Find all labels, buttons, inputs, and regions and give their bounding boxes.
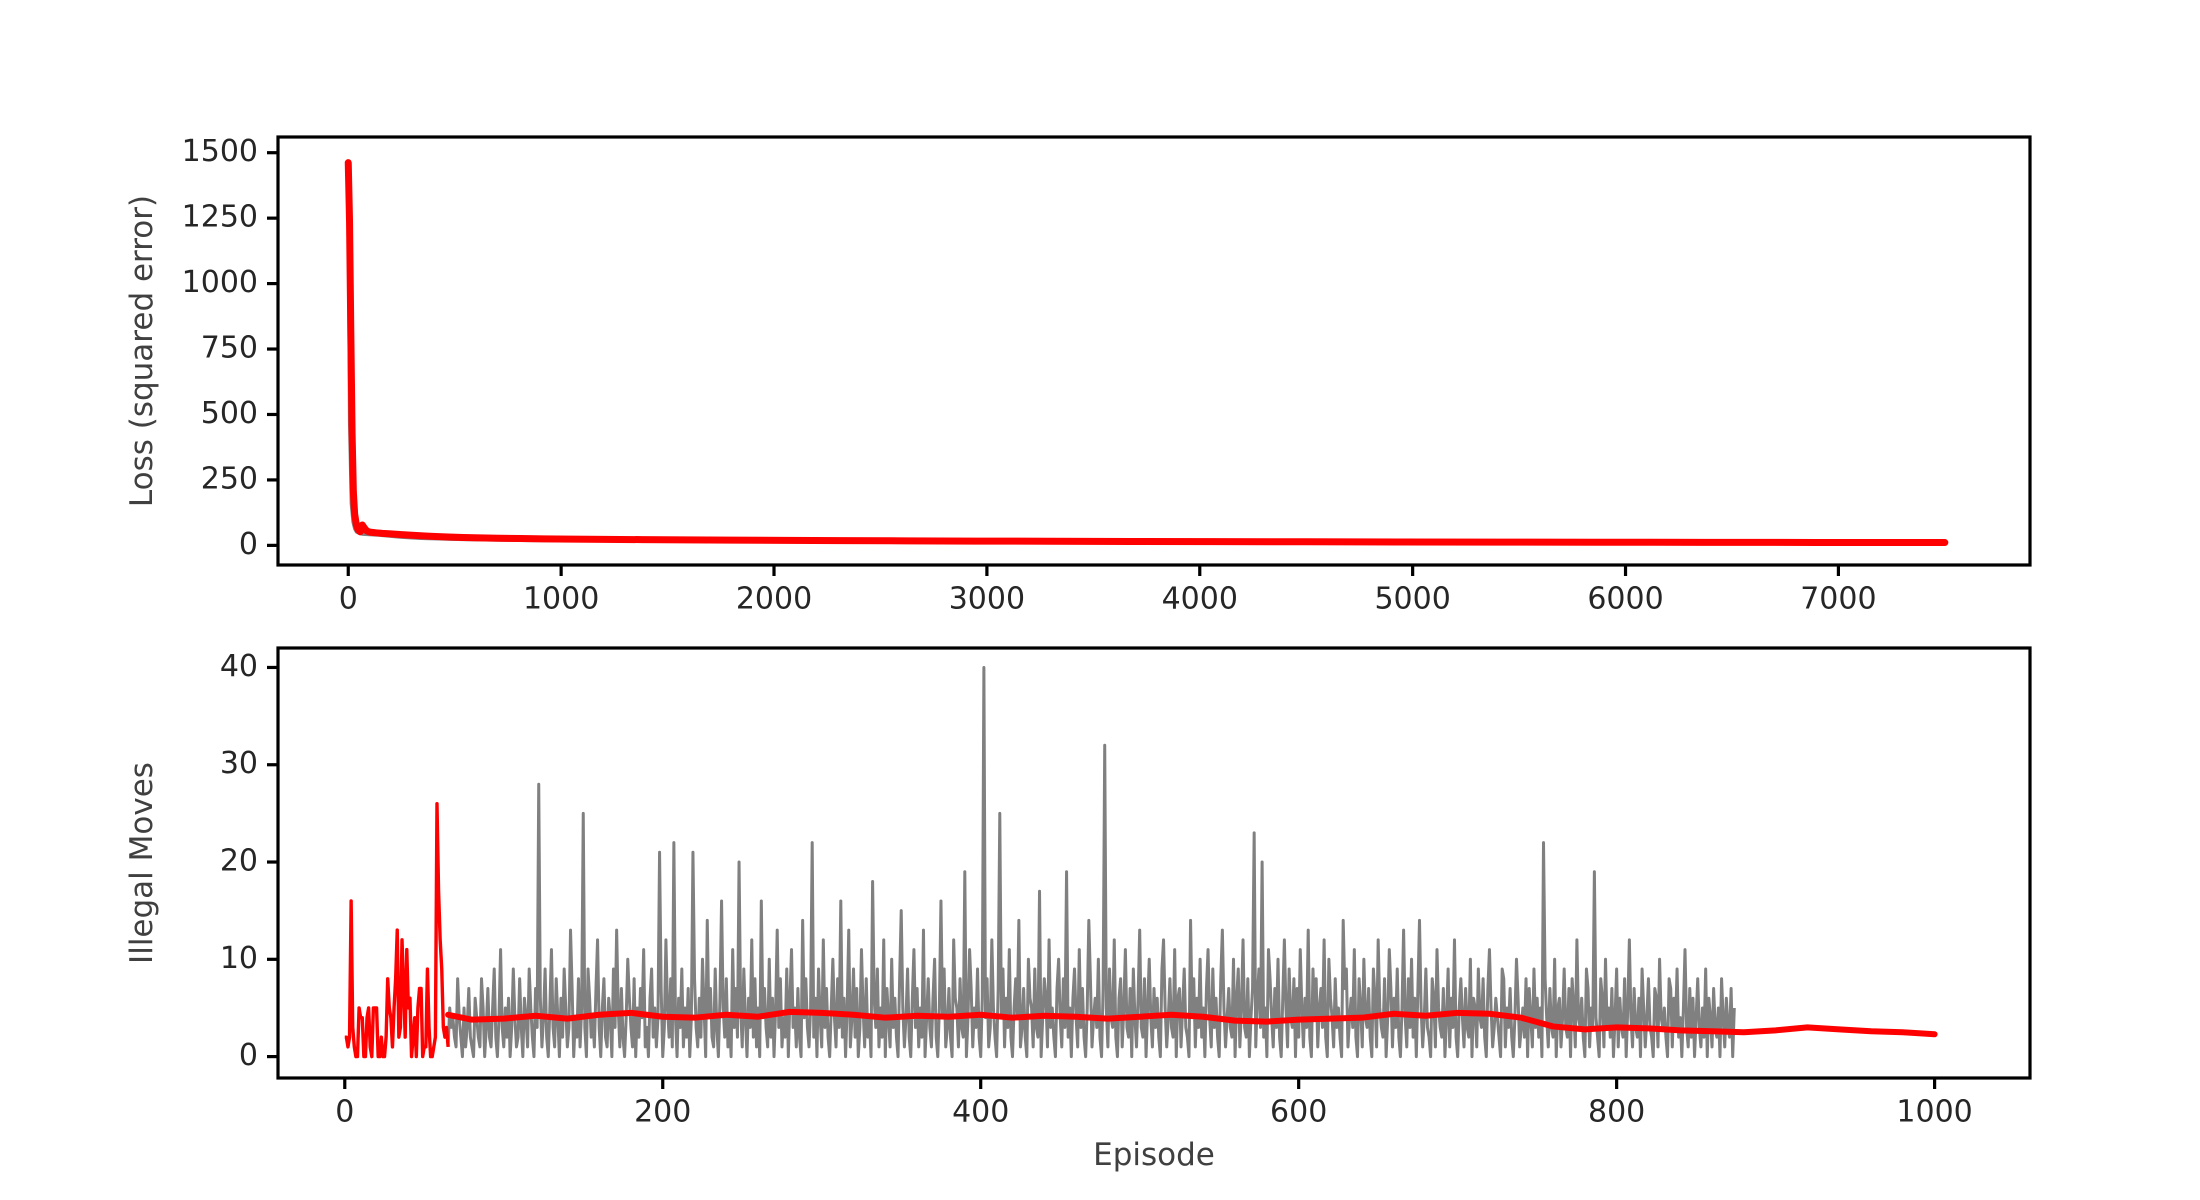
x-tick-label: 400 — [952, 1095, 1009, 1130]
illegal-moves-x-ticks: 02004006008001000 — [335, 1078, 1973, 1130]
x-tick-label: 600 — [1270, 1095, 1327, 1130]
loss-series-group — [348, 163, 1945, 544]
x-tick-label: 1000 — [523, 582, 599, 617]
x-tick-label: 800 — [1588, 1095, 1645, 1130]
x-tick-label: 6000 — [1587, 582, 1663, 617]
illegal-moves-y-ticks: 010203040 — [220, 649, 278, 1073]
loss-ylabel: Loss (squared error) — [124, 195, 160, 507]
y-tick-label: 0 — [239, 527, 258, 562]
y-tick-label: 40 — [220, 649, 258, 684]
x-tick-label: 0 — [339, 582, 358, 617]
training-diagnostics-figure: 01000200030004000500060007000 0250500750… — [0, 0, 2200, 1200]
y-tick-label: 0 — [239, 1038, 258, 1073]
y-tick-label: 250 — [201, 461, 258, 496]
y-tick-label: 10 — [220, 941, 258, 976]
x-tick-label: 2000 — [736, 582, 812, 617]
x-tick-label: 7000 — [1800, 582, 1876, 617]
loss-panel: 01000200030004000500060007000 0250500750… — [0, 0, 2200, 620]
x-tick-label: 200 — [634, 1095, 691, 1130]
illegal-moves-panel-svg: 02004006008001000 010203040 Episode Ille… — [0, 620, 2200, 1200]
x-tick-label: 3000 — [949, 582, 1025, 617]
x-tick-label: 4000 — [1162, 582, 1238, 617]
illegal-moves-early-red-line — [345, 804, 448, 1057]
y-tick-label: 1250 — [182, 200, 258, 235]
loss-axes-frame — [278, 137, 2030, 565]
illegal-moves-plot-area: 02004006008001000 010203040 — [220, 648, 2030, 1130]
loss-raw-line — [348, 163, 1945, 544]
illegal-moves-ylabel: Illegal Moves — [124, 762, 160, 964]
x-tick-label: 1000 — [1896, 1095, 1972, 1130]
y-tick-label: 1500 — [182, 134, 258, 169]
y-tick-label: 750 — [201, 331, 258, 366]
y-tick-label: 1000 — [182, 265, 258, 300]
y-tick-label: 30 — [220, 746, 258, 781]
illegal-moves-raw-line — [448, 667, 1734, 1056]
illegal-moves-series-group — [345, 667, 1935, 1056]
loss-plot-area: 01000200030004000500060007000 0250500750… — [182, 134, 2030, 616]
loss-y-ticks: 0250500750100012501500 — [182, 134, 278, 562]
loss-smoothed-line — [348, 163, 1945, 543]
y-tick-label: 500 — [201, 396, 258, 431]
loss-panel-svg: 01000200030004000500060007000 0250500750… — [0, 0, 2200, 620]
illegal-moves-xlabel: Episode — [1093, 1137, 1215, 1173]
x-tick-label: 5000 — [1374, 582, 1450, 617]
loss-x-ticks: 01000200030004000500060007000 — [339, 565, 1877, 617]
illegal-moves-panel: 02004006008001000 010203040 Episode Ille… — [0, 620, 2200, 1200]
x-tick-label: 0 — [335, 1095, 354, 1130]
y-tick-label: 20 — [220, 844, 258, 879]
